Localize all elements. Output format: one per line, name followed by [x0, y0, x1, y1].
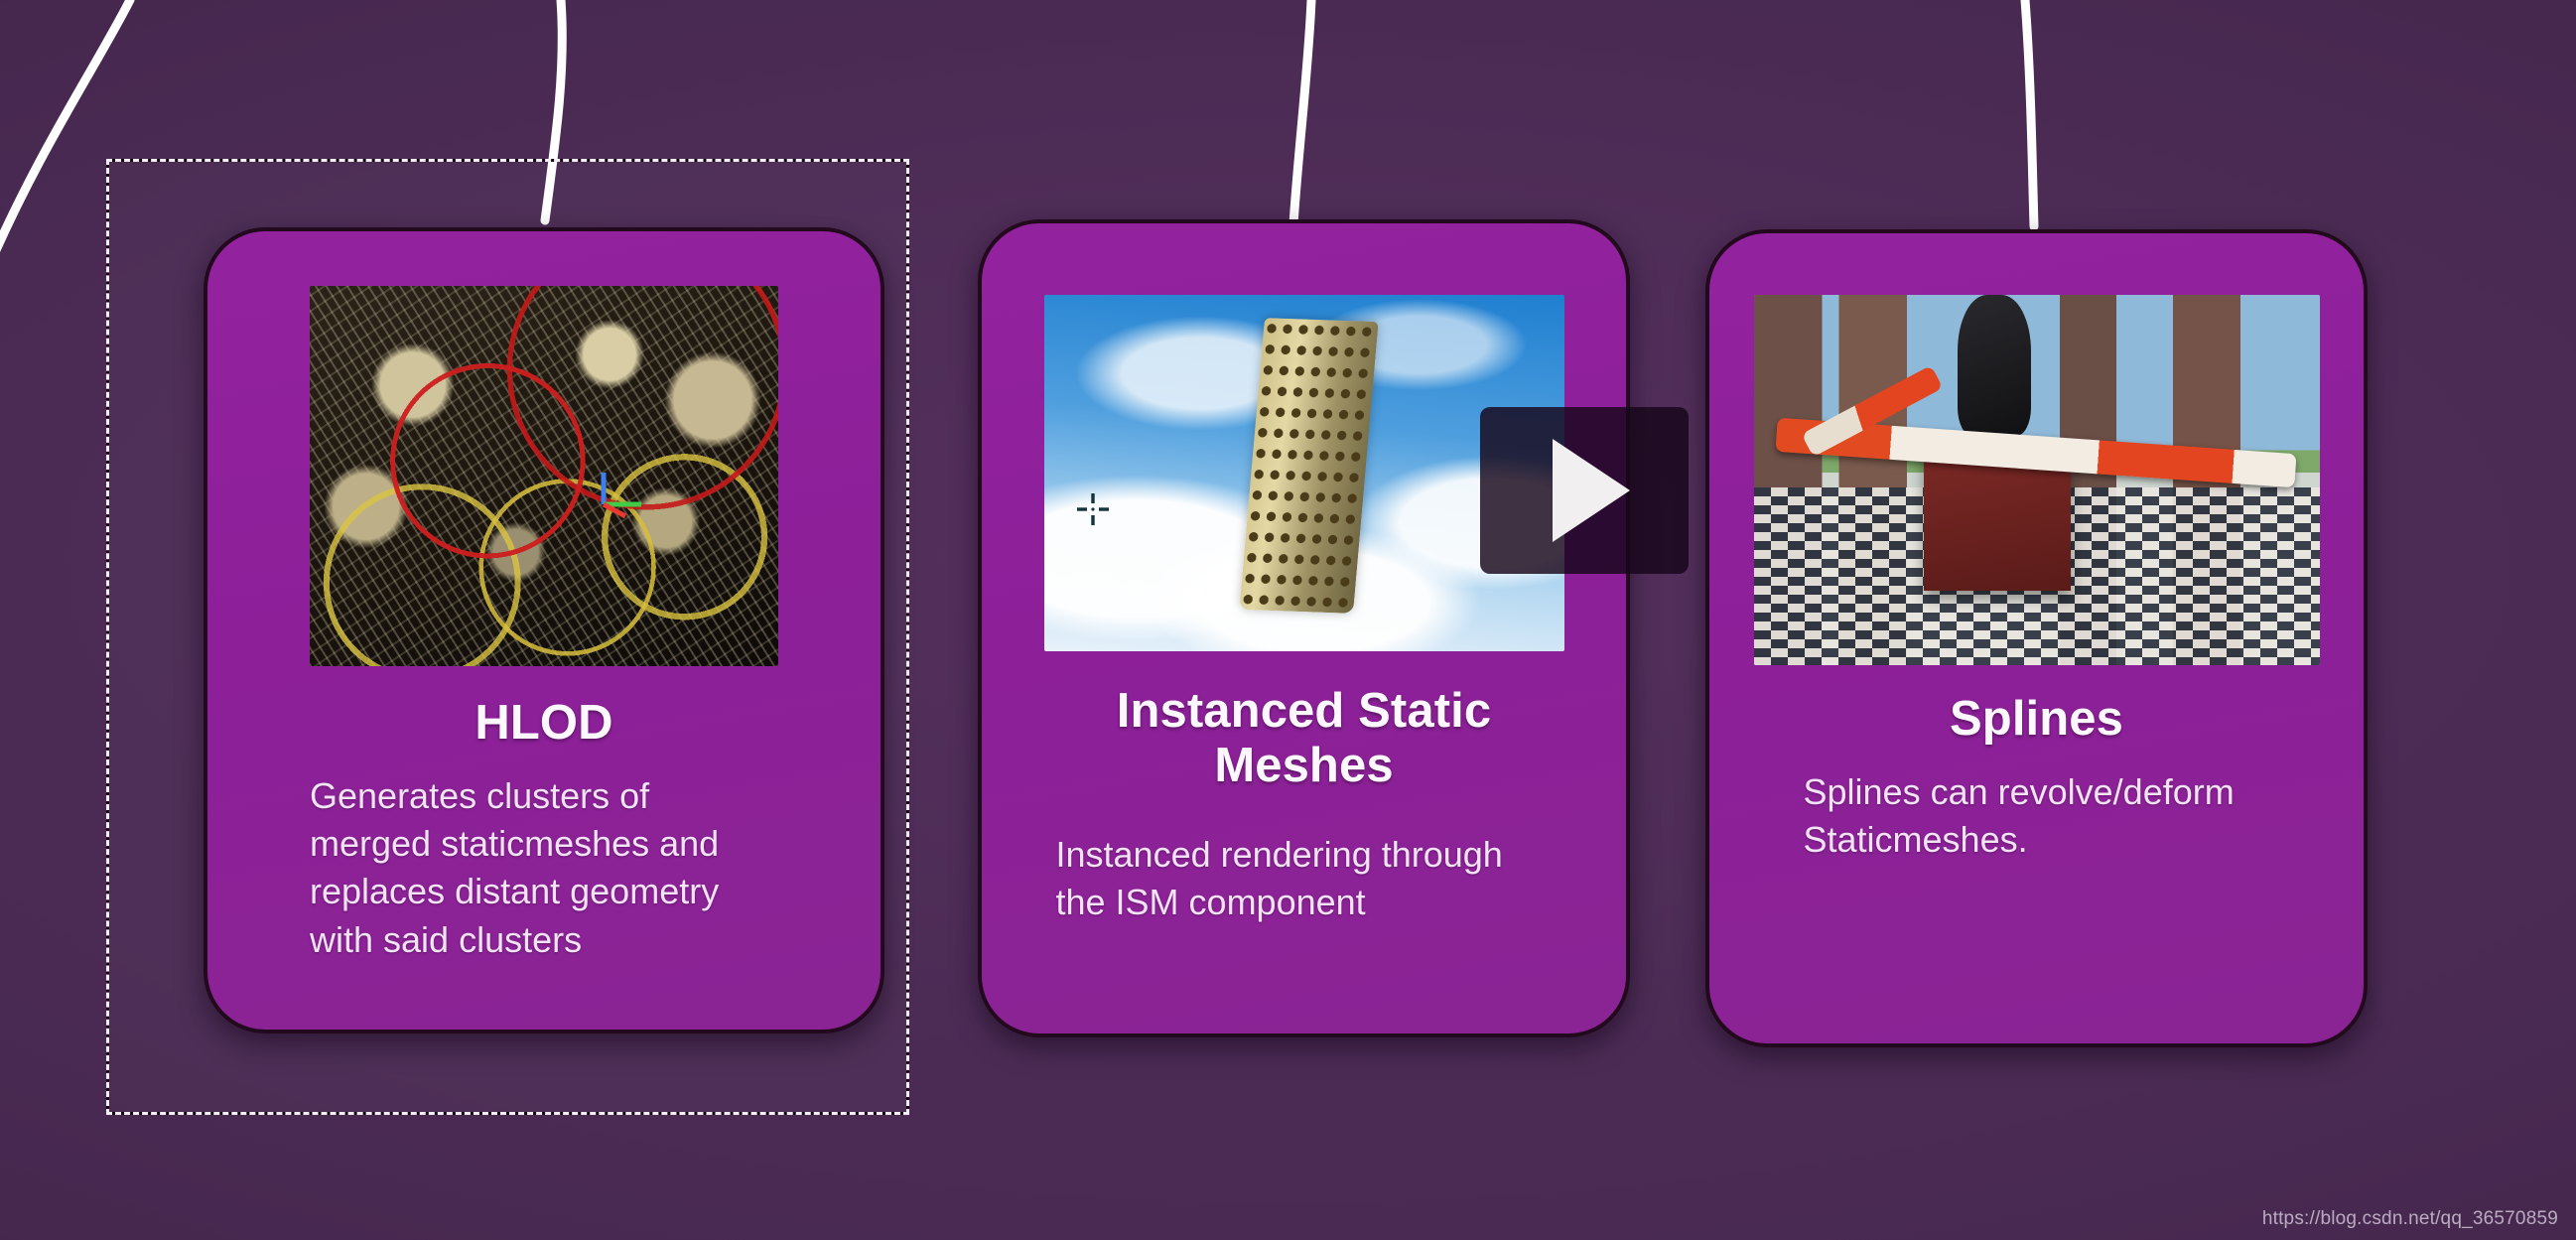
- connector-line-splines: [2025, 0, 2034, 226]
- splines-thumbnail[interactable]: [1754, 295, 2320, 665]
- card-instanced-static-meshes[interactable]: Instanced Static Meshes Instanced render…: [978, 219, 1630, 1037]
- connector-line-ism: [1293, 0, 1311, 224]
- splines-hall-image: [1754, 295, 2320, 665]
- card-ism-title: Instanced Static Meshes: [1046, 684, 1562, 793]
- source-watermark: https://blog.csdn.net/qq_36570859: [2262, 1208, 2558, 1230]
- mindmap-canvas[interactable]: HLOD Generates clusters of merged static…: [0, 0, 2576, 1240]
- play-triangle-icon: [1553, 439, 1630, 542]
- card-splines[interactable]: Splines Splines can revolve/deform Stati…: [1705, 229, 2368, 1047]
- transform-gizmo-icon: [596, 465, 649, 518]
- hlod-thumbnail[interactable]: [310, 286, 778, 666]
- card-splines-description: Splines can revolve/deform Staticmeshes.: [1804, 768, 2270, 864]
- card-splines-title: Splines: [1950, 692, 2123, 747]
- card-hlod-title: HLOD: [475, 696, 612, 751]
- splines-statue: [1958, 295, 2031, 436]
- card-ism-description: Instanced rendering through the ISM comp…: [1056, 831, 1553, 926]
- ism-instanced-tower: [1239, 318, 1379, 614]
- card-hlod-description: Generates clusters of merged staticmeshe…: [310, 772, 778, 964]
- play-button[interactable]: [1480, 407, 1689, 574]
- hlod-cluster-wireframe-image: [310, 286, 778, 666]
- card-hlod[interactable]: HLOD Generates clusters of merged static…: [203, 227, 884, 1033]
